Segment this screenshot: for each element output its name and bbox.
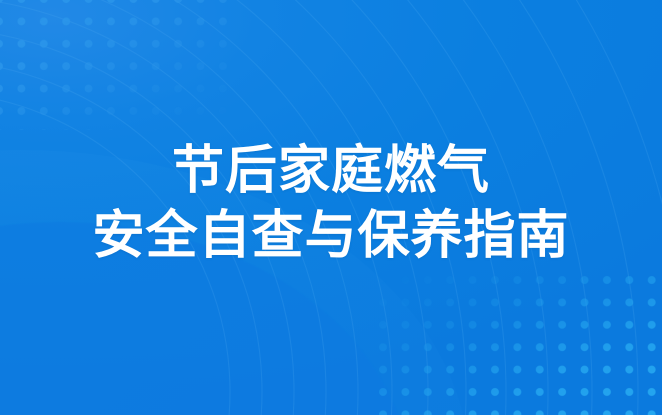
page-title: 节后家庭燃气 安全自查与保养指南	[0, 139, 662, 269]
headline-line-2: 安全自查与保养指南	[0, 204, 662, 269]
dot-grid-bottom-right	[378, 275, 662, 415]
dot-grid-top-left	[0, 0, 230, 130]
gas-safety-banner: 节后家庭燃气 安全自查与保养指南	[0, 0, 662, 415]
headline-line-1: 节后家庭燃气	[0, 139, 662, 204]
